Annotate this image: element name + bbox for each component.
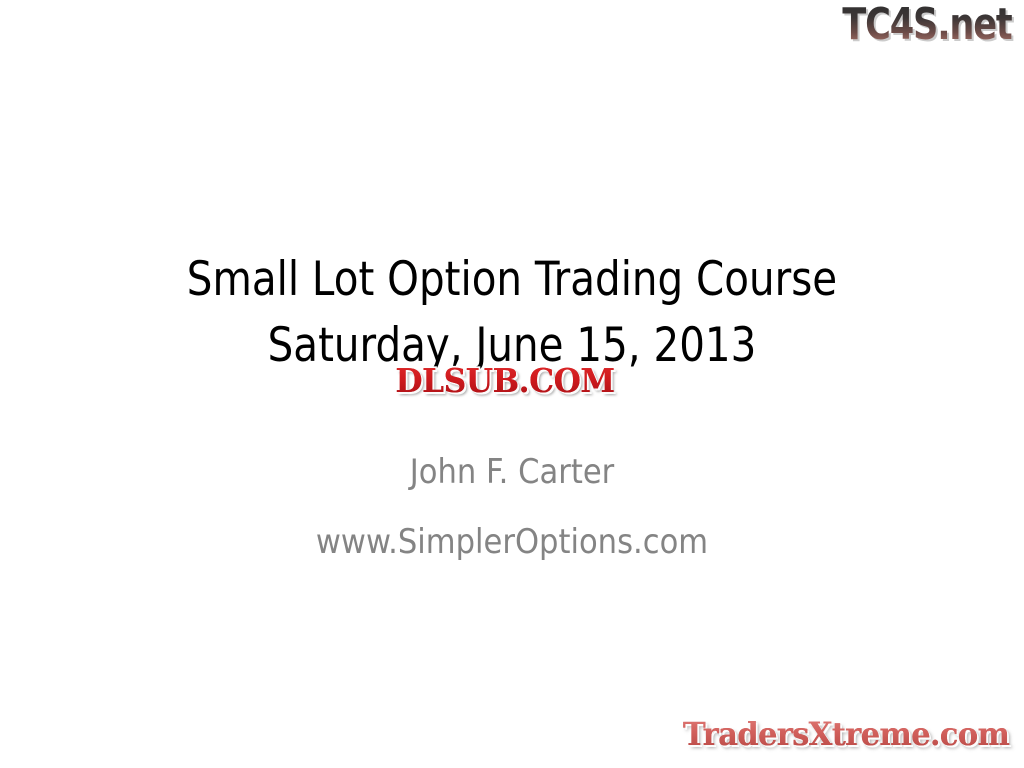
subtitle-author: John F. Carter	[51, 437, 973, 507]
subtitle-website: www.SimplerOptions.com	[51, 507, 973, 577]
title-line-1: Small Lot Option Trading Course	[72, 247, 953, 313]
slide-subtitle: John F. Carter www.SimplerOptions.com	[0, 437, 1024, 577]
presentation-slide: TC4S.net TC4S.net Small Lot Option Tradi…	[0, 0, 1024, 768]
brand-logo-text: TC4S.net	[843, 2, 1012, 48]
watermark-tradersxtreme-text: TradersXtreme.com	[683, 712, 1009, 756]
watermark-dlsub-text: DLSUB.COM	[373, 361, 637, 401]
watermark-tradersxtreme: TradersXtreme.com TradersXtreme.com	[676, 712, 1016, 760]
slide-title: Small Lot Option Trading Course Saturday…	[0, 247, 1024, 379]
watermark-dlsub: DLSUB.COM DLSUB.COM	[366, 361, 644, 403]
